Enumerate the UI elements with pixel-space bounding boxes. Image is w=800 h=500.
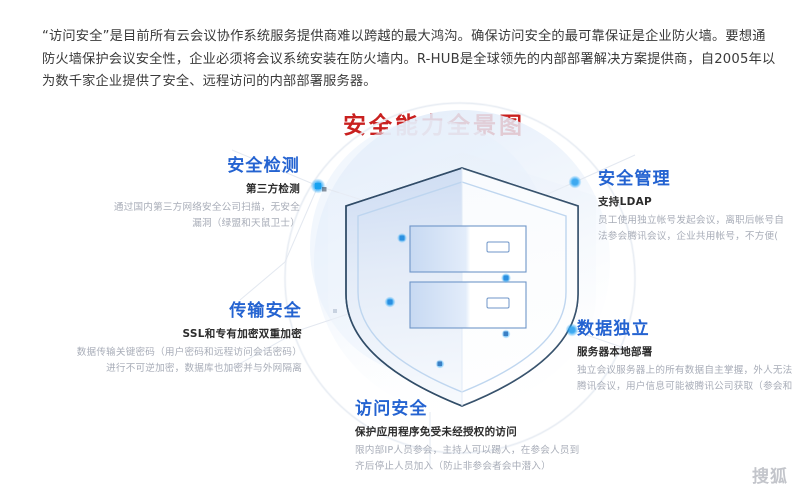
- node-dot-shield-right: [501, 273, 511, 283]
- node-dot-shield-upper-left: [397, 233, 407, 243]
- callout-title-transmission: 传输安全: [24, 300, 302, 322]
- sohu-watermark: 搜狐: [752, 462, 788, 487]
- callout-body-management: 员工使用独立帐号发起会议，离职后帐号自 法参会腾讯会议，企业共用帐号，不方便(: [598, 213, 800, 244]
- callout-body-line: 腾讯会议，用户信息可能被腾讯公司获取（参会和: [577, 379, 800, 395]
- callout-body-detection: 通过国内第三方网络安全公司扫描，无安全 漏洞（绿盟和天鼠卫士）: [30, 200, 300, 231]
- callout-body-line: 员工使用独立帐号发起会议，离职后帐号自: [598, 213, 800, 229]
- callout-body-line: 独立会议服务器上的所有数据自主掌握，外人无法: [577, 363, 800, 379]
- callout-title-detection: 安全检测: [30, 155, 300, 177]
- node-dot-top-right: [569, 176, 582, 189]
- callout-subtitle-detection: 第三方检测: [30, 182, 300, 197]
- callout-data-independence: 数据独立 服务器本地部署 独立会议服务器上的所有数据自主掌握，外人无法 腾讯会议…: [577, 318, 800, 394]
- callout-subtitle-management: 支持LDAP: [598, 195, 800, 210]
- halo-glow: [310, 110, 610, 414]
- node-dots: [311, 176, 582, 369]
- shield-icon: [346, 168, 578, 406]
- page-title: 安全能力全景图: [0, 106, 800, 140]
- callout-security-management: 安全管理 支持LDAP 员工使用独立帐号发起会议，离职后帐号自 法参会腾讯会议，…: [598, 168, 800, 244]
- callout-subtitle-access: 保护应用程序免受未经授权的访问: [355, 425, 675, 440]
- callout-body-transmission: 数据传输关键密码（用户密码和远程访问会话密码） 进行不可逆加密，数据库也加密并与…: [24, 345, 302, 376]
- callout-access-security: 访问安全 保护应用程序免受未经授权的访问 限内部IP人员参会，主持人可以踢人，在…: [355, 398, 675, 474]
- callout-title-data: 数据独立: [577, 318, 800, 340]
- infographic-page: “访问安全”是目前所有云会议协作系统服务提供商难以跨越的最大鸿沟。确保访问安全的…: [0, 0, 800, 500]
- callout-body-line: 齐后停止人员加入（防止非参会者会中潜入）: [355, 459, 675, 475]
- callout-body-line: 数据传输关键密码（用户密码和远程访问会话密码）: [24, 345, 302, 361]
- intro-line-3: 为数千家企业提供了安全、远程访问的内部部署服务器。: [42, 71, 800, 94]
- intro-line-1: “访问安全”是目前所有云会议协作系统服务提供商难以跨越的最大鸿沟。确保访问安全的…: [42, 26, 800, 49]
- intro-paragraph: “访问安全”是目前所有云会议协作系统服务提供商难以跨越的最大鸿沟。确保访问安全的…: [42, 26, 800, 94]
- server-rack-icon: [410, 226, 526, 328]
- callout-body-line: 进行不可逆加密，数据库也加密并与外网隔离: [24, 361, 302, 377]
- node-dot-shield-left: [385, 297, 396, 308]
- callout-body-line: 漏洞（绿盟和天鼠卫士）: [30, 216, 300, 232]
- callout-body-line: 法参会腾讯会议，企业共用帐号，不方便(: [598, 229, 800, 245]
- callout-subtitle-transmission: SSL和专有加密双重加密: [24, 327, 302, 342]
- callout-body-access: 限内部IP人员参会，主持人可以踢人，在参会人员到 齐后停止人员加入（防止非参会者…: [355, 443, 675, 474]
- callout-title-management: 安全管理: [598, 168, 800, 190]
- callout-security-detection: 安全检测 第三方检测 通过国内第三方网络安全公司扫描，无安全 漏洞（绿盟和天鼠卫…: [30, 155, 300, 231]
- shield-outer-ghost: [328, 152, 596, 424]
- callout-body-data: 独立会议服务器上的所有数据自主掌握，外人无法 腾讯会议，用户信息可能被腾讯公司获…: [577, 363, 800, 394]
- callout-subtitle-data: 服务器本地部署: [577, 345, 800, 360]
- callout-title-access: 访问安全: [355, 398, 675, 420]
- callout-body-line: 限内部IP人员参会，主持人可以踢人，在参会人员到: [355, 443, 675, 459]
- node-dot-shield-bottom: [436, 360, 445, 369]
- node-dot-top-left: [311, 179, 327, 194]
- intro-line-2: 防火墙保护会议安全性，企业必须将会议系统安装在防火墙内。R-HUB是全球领先的内…: [42, 49, 800, 72]
- callout-transmission-security: 传输安全 SSL和专有加密双重加密 数据传输关键密码（用户密码和远程访问会话密码…: [24, 300, 302, 376]
- node-dot-shield-lower-right: [502, 330, 511, 339]
- node-dot-faint-left: [333, 309, 337, 313]
- callout-body-line: 通过国内第三方网络安全公司扫描，无安全: [30, 200, 300, 216]
